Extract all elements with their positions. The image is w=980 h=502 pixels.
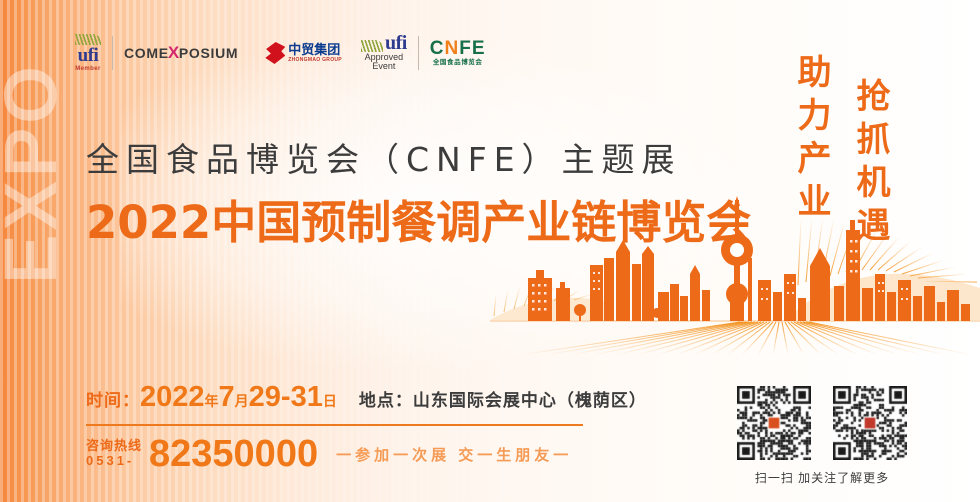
exhibition-banner: EXPO ufi Member COMEXPOSIUM 中贸集团 ZHONGMA… [0,0,980,502]
hotline-label-line2: 0531- [86,454,142,469]
page-title-main: 全国食品博览会（CNFE）主题展 [86,133,682,181]
place-value: 山东国际会展中心（槐荫区） [413,386,647,411]
event-year: 2022 [140,381,205,414]
ufi-member-label: Member [75,66,100,72]
ufi-wordmark: ufi [78,46,99,65]
ufi-swoosh-icon [75,34,101,45]
qr-caption: 扫一扫 加关注了解更多 [727,469,917,486]
cnfe-letters-fe: FE [459,39,485,58]
comexposium-part1: COME [124,45,169,61]
qr-code-1[interactable] [737,386,811,460]
month-unit: 月 [235,391,249,411]
logo-divider [418,36,419,70]
hotline-row: 咨询热线 0531- 82350000 一参加一次展 交一生朋友一 [86,435,586,473]
logo-cnfe: CNFE 全国食品博览会 [430,26,486,80]
logo-divider [251,36,252,70]
event-month: 7 [219,381,235,414]
event-days: 29-31 [249,381,323,414]
ufi-approved-wordmark: ufi [385,35,407,52]
info-divider [86,424,583,426]
page-title-sub: 2022中国预制餐调产业链博览会 [86,186,751,251]
logo-divider [351,36,352,70]
qr-code-2-canvas[interactable] [833,386,907,460]
slogan-left: 助力产业 [794,54,828,226]
expo-watermark-strip: EXPO [0,0,62,345]
place-label: 地点： [359,386,413,411]
logo-zhongmao-group: 中贸集团 ZHONGMAO GROUP [265,26,342,80]
sponsor-logo-bar: ufi Member COMEXPOSIUM 中贸集团 ZHONGMAO GRO… [75,26,486,80]
event-info-block: 时间： 2022 年 7 月 29-31 日 地点： 山东国际会展中心（槐荫区）… [86,381,586,473]
day-unit: 日 [323,391,337,411]
logo-ufi-member: ufi Member [75,26,101,80]
cnfe-letter-n-accent: N [445,39,460,58]
qr-code-1-canvas[interactable] [737,386,811,460]
ground-rays [520,322,972,355]
zhongmao-mark-icon [265,42,285,64]
hotline-label: 咨询热线 0531- [86,439,142,469]
time-label: 时间： [86,386,140,411]
zhongmao-english-name: ZHONGMAO GROUP [288,58,342,63]
qr-code-block: 扫一扫 加关注了解更多 [727,386,917,486]
qr-code-2[interactable] [833,386,907,460]
hotline-number[interactable]: 82350000 [149,435,318,473]
expo-watermark-text: EXPO [0,62,62,284]
slogan-right: 抢抓机遇 [853,78,887,250]
zhongmao-chinese-name: 中贸集团 [288,43,342,56]
ufi-swoosh-icon [361,40,383,52]
hotline-label-line1: 咨询热线 [86,439,142,454]
ufi-approved-line2: Event [372,62,395,71]
year-unit: 年 [205,391,219,411]
logo-ufi-approved-event: ufi Approved Event [361,26,407,80]
logo-divider [112,36,113,70]
comexposium-part2: POSIUM [179,45,238,61]
cnfe-letter-c: C [430,39,445,58]
cnfe-chinese-subtitle: 全国食品博览会 [433,60,483,67]
logo-comexposium: COMEXPOSIUM [124,26,238,80]
event-datetime-row: 时间： 2022 年 7 月 29-31 日 地点： 山东国际会展中心（槐荫区） [86,381,586,414]
event-tagline: 一参加一次展 交一生朋友一 [336,444,572,465]
